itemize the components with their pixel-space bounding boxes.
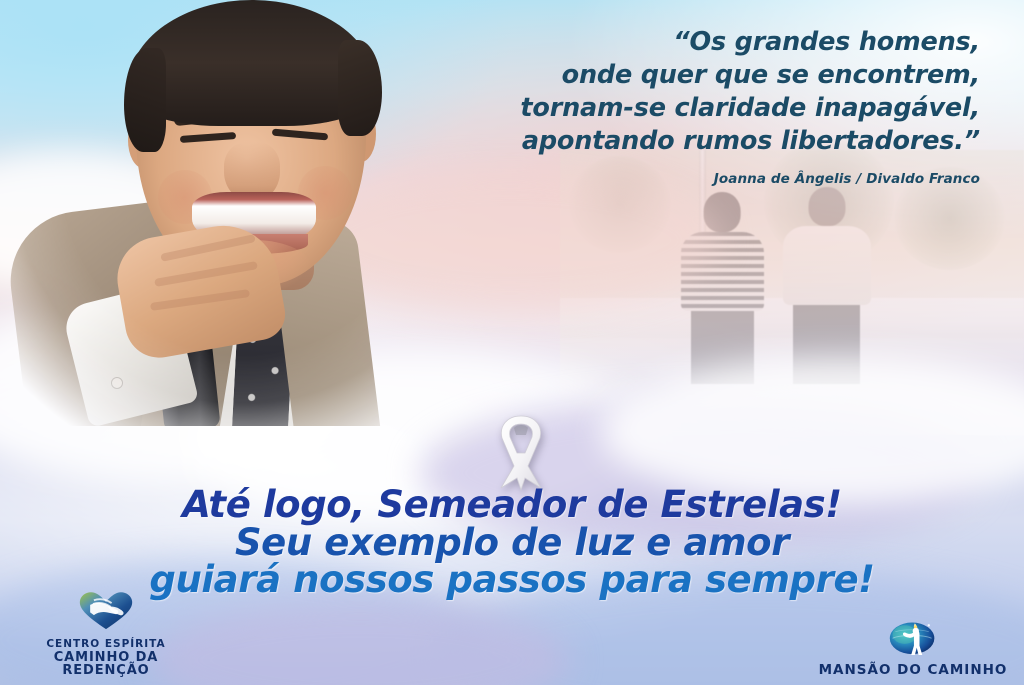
logo-right-text: MANSÃO DO CAMINHO	[819, 664, 1008, 677]
quote-line-2: onde quer que se encontrem,	[420, 59, 980, 92]
quote-block: “Os grandes homens, onde quer que se enc…	[420, 26, 980, 187]
headline-line-2: Seu exemplo de luz e amor	[0, 524, 1024, 562]
logo-left-text: CENTRO ESPÍRITA CAMINHO DA REDENÇÃO	[8, 638, 204, 677]
logo-centro-espirita: CENTRO ESPÍRITA CAMINHO DA REDENÇÃO	[8, 590, 204, 677]
portrait-photo	[8, 0, 478, 426]
globe-figure-icon	[887, 614, 939, 661]
memorial-poster: “Os grandes homens, onde quer que se enc…	[0, 0, 1024, 685]
headline-block: Até logo, Semeador de Estrelas! Seu exem…	[0, 486, 1024, 599]
quote-line-3: tornam-se claridade inapagável,	[420, 92, 980, 125]
quote-line-1: “Os grandes homens,	[420, 26, 980, 59]
quote-attribution: Joanna de Ângelis / Divaldo Franco	[420, 171, 980, 187]
logo-left-line-2: CAMINHO DA REDENÇÃO	[8, 651, 204, 677]
heart-hands-icon	[77, 590, 135, 635]
quote-line-4: apontando rumos libertadores.”	[420, 125, 980, 158]
logo-right-line-2: MANSÃO DO CAMINHO	[819, 664, 1008, 677]
mourning-ribbon-icon	[487, 408, 555, 492]
headline-line-1: Até logo, Semeador de Estrelas!	[0, 486, 1024, 524]
logo-mansao-do-caminho: MANSÃO DO CAMINHO	[810, 614, 1016, 677]
